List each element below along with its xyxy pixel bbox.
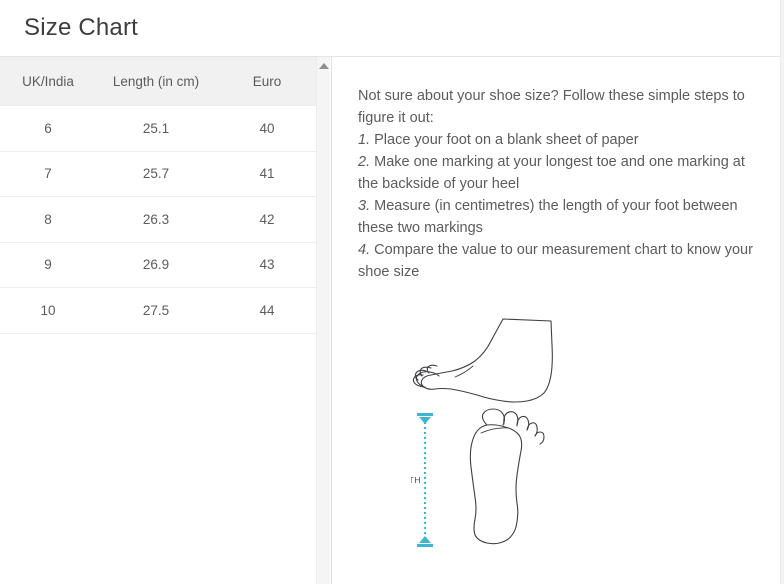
cell-uk-india: 6 — [0, 106, 96, 152]
cell-length: 26.3 — [96, 197, 216, 243]
cell-uk-india: 9 — [0, 242, 96, 288]
instructions-intro: Not sure about your shoe size? Follow th… — [358, 85, 754, 129]
step-number: 3. — [358, 198, 370, 214]
step-text: Make one marking at your longest toe and… — [358, 154, 745, 192]
table-row: 7 25.7 41 — [0, 151, 318, 197]
size-table-body: 6 25.1 40 7 25.7 41 8 26.3 42 9 26.9 — [0, 106, 318, 334]
step-number: 2. — [358, 154, 370, 170]
step-text: Compare the value to our measurement cha… — [358, 242, 753, 280]
table-header-row: UK/India Length (in cm) Euro — [0, 57, 318, 106]
foot-sole-view-icon — [470, 409, 544, 544]
instruction-step: 2. Make one marking at your longest toe … — [358, 151, 754, 195]
table-scrollbar[interactable] — [316, 57, 330, 584]
cell-uk-india: 10 — [0, 288, 96, 334]
size-table-head: UK/India Length (in cm) Euro — [0, 57, 318, 106]
table-row: 9 26.9 43 — [0, 242, 318, 288]
column-header-euro: Euro — [216, 57, 318, 106]
cell-euro: 44 — [216, 288, 318, 334]
column-header-length: Length (in cm) — [96, 57, 216, 106]
instructions-text: Not sure about your shoe size? Follow th… — [358, 85, 754, 283]
instruction-step: 3. Measure (in centimetres) the length o… — [358, 195, 754, 239]
length-label: LENGTH — [411, 475, 421, 485]
foot-side-view-icon — [413, 319, 552, 402]
table-row: 8 26.3 42 — [0, 197, 318, 243]
content-area: UK/India Length (in cm) Euro 6 25.1 40 7… — [0, 57, 784, 584]
cell-euro: 42 — [216, 197, 318, 243]
cell-euro: 41 — [216, 151, 318, 197]
step-text: Place your foot on a blank sheet of pape… — [374, 132, 638, 148]
instruction-step: 4. Compare the value to our measurement … — [358, 239, 754, 283]
cell-length: 25.7 — [96, 151, 216, 197]
foot-measurement-diagram: LENGTH — [358, 311, 754, 551]
instruction-step: 1. Place your foot on a blank sheet of p… — [358, 129, 754, 151]
page-right-edge — [780, 0, 784, 584]
cell-uk-india: 8 — [0, 197, 96, 243]
triangle-up-icon[interactable] — [319, 63, 329, 69]
instructions-steps: 1. Place your foot on a blank sheet of p… — [358, 129, 754, 283]
cell-length: 26.9 — [96, 242, 216, 288]
cell-euro: 43 — [216, 242, 318, 288]
cell-length: 25.1 — [96, 106, 216, 152]
step-text: Measure (in centimetres) the length of y… — [358, 198, 738, 236]
page-title: Size Chart — [24, 16, 138, 40]
table-row: 10 27.5 44 — [0, 288, 318, 334]
size-table-panel: UK/India Length (in cm) Euro 6 25.1 40 7… — [0, 57, 332, 584]
step-number: 4. — [358, 242, 370, 258]
cell-uk-india: 7 — [0, 151, 96, 197]
size-table: UK/India Length (in cm) Euro 6 25.1 40 7… — [0, 57, 318, 334]
cell-euro: 40 — [216, 106, 318, 152]
instructions-panel: Not sure about your shoe size? Follow th… — [332, 57, 784, 584]
step-number: 1. — [358, 132, 370, 148]
foot-diagram-svg: LENGTH — [411, 311, 701, 551]
page-header: Size Chart — [0, 0, 784, 57]
column-header-uk-india: UK/India — [0, 57, 96, 106]
table-row: 6 25.1 40 — [0, 106, 318, 152]
cell-length: 27.5 — [96, 288, 216, 334]
